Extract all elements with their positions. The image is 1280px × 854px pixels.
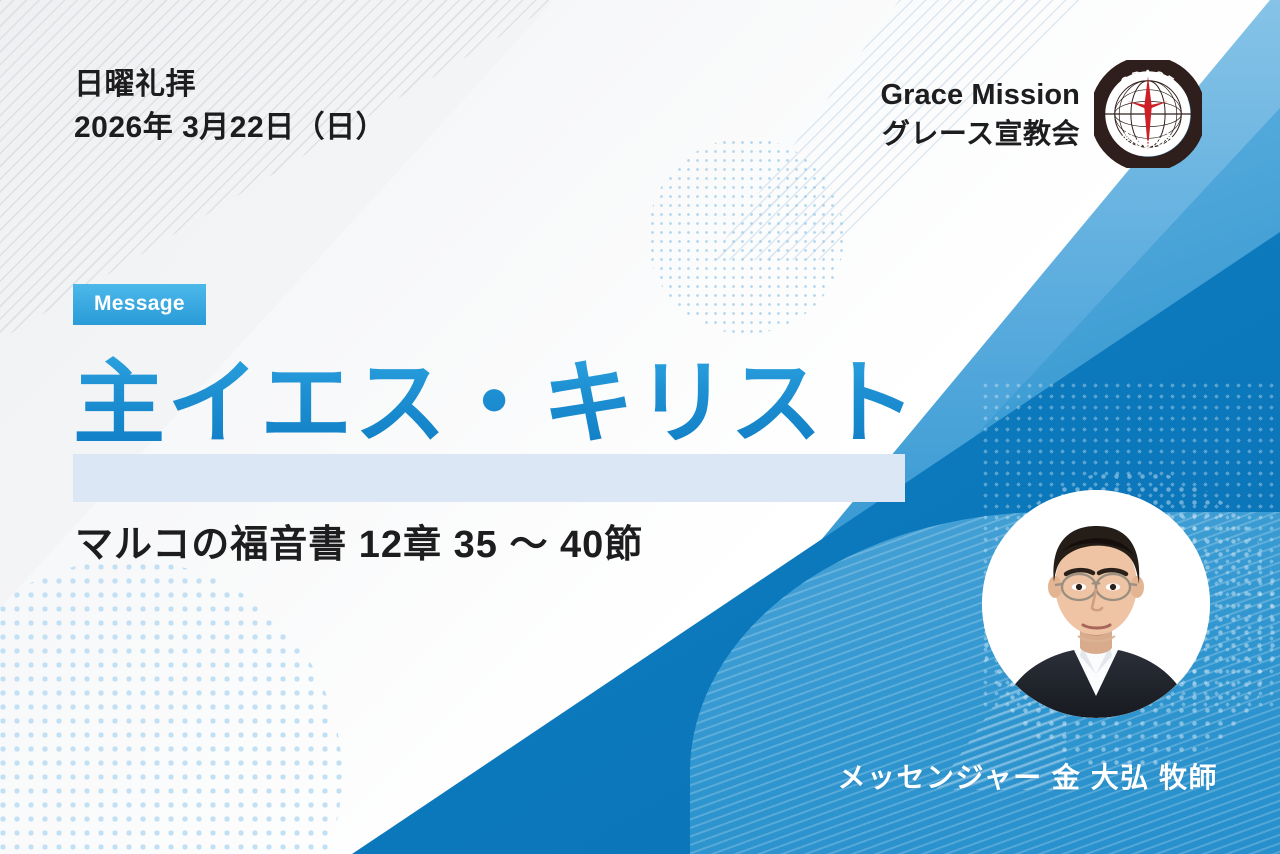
- sermon-title: 主イエス・キリスト: [73, 350, 918, 459]
- service-label: 日曜礼拝: [74, 64, 386, 107]
- service-header: 日曜礼拝 2026年 3月22日（日）: [74, 64, 386, 149]
- dot-circle-top: [648, 138, 844, 334]
- speaker-portrait: [982, 490, 1210, 718]
- message-badge: Message: [73, 284, 206, 325]
- brand-name-jp: グレース宣教会: [880, 115, 1080, 153]
- grace-mission-logo-icon: GRACE MISSION: [1094, 60, 1202, 168]
- sermon-slide: 日曜礼拝 2026年 3月22日（日） Grace Mission グレース宣教…: [0, 0, 1280, 854]
- sermon-title-block: 主イエス・キリスト: [73, 350, 918, 459]
- title-highlight-bar: [73, 454, 905, 502]
- brand-name-en: Grace Mission: [880, 76, 1080, 115]
- messenger-credit: メッセンジャー 金 大弘 牧師: [838, 756, 1218, 796]
- brand-text: Grace Mission グレース宣教会: [880, 76, 1080, 152]
- service-date: 2026年 3月22日（日）: [74, 107, 386, 150]
- brand-lockup: Grace Mission グレース宣教会: [880, 60, 1202, 168]
- scripture-reference: マルコの福音書 12章 35 〜 40節: [75, 513, 643, 568]
